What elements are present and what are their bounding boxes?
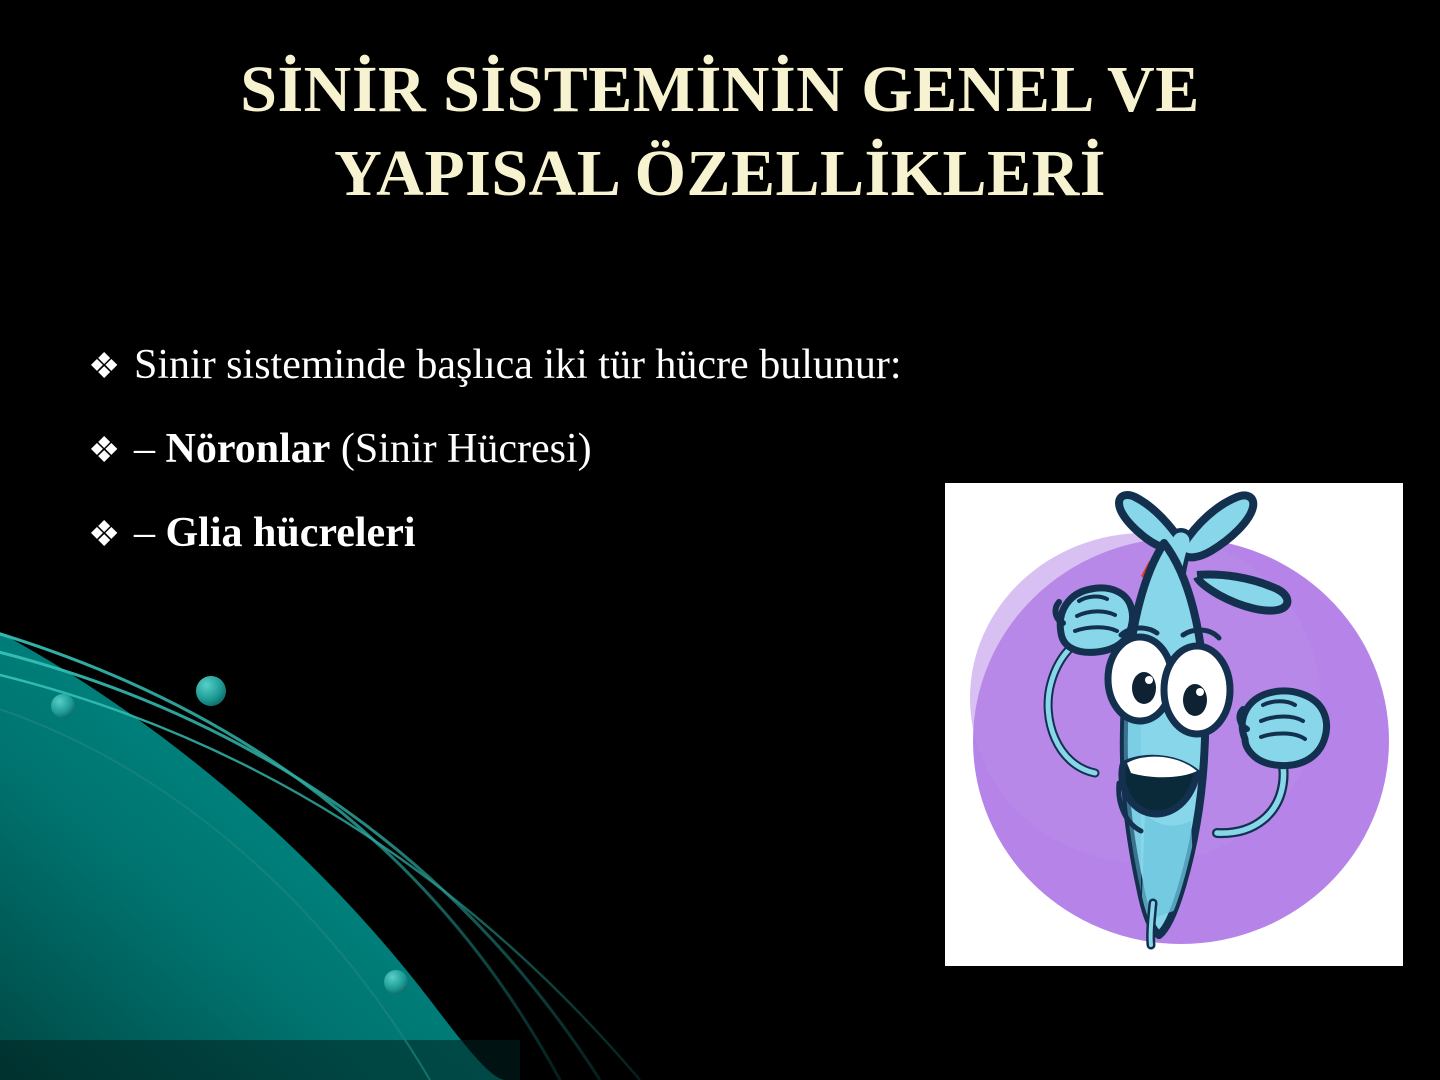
orbit-dot-3 [384,970,408,994]
list-item-bold: Glia hücreleri [166,510,416,556]
diamond-bullet-icon: ❖ [88,516,134,552]
list-item-bold: Nöronlar [166,426,331,472]
list-item-text: – Nöronlar (Sinir Hücresi) [134,428,1138,470]
list-item: ❖ Sinir sisteminde başlıca iki tür hücre… [88,344,1138,386]
slide-title: SİNİR SİSTEMİNİN GENEL VE YAPISAL ÖZELLİ… [70,48,1370,217]
list-item-dash: – [134,426,166,472]
right-pupil [1183,684,1207,716]
cartoon-neuron-illustration [945,483,1403,966]
orbit-arc-3 [0,668,640,1080]
axon-tail-fill [1151,903,1153,945]
list-item-text: Sinir sisteminde başlıca iki tür hücre b… [134,344,1138,386]
right-fist-icon [1240,691,1327,766]
list-item: ❖ – Nöronlar (Sinir Hücresi) [88,428,1138,470]
neuron-image-frame [945,483,1403,966]
left-pupil [1132,672,1156,704]
orbit-dot-1 [51,694,75,718]
orbit-dot-2 [196,676,226,706]
diamond-bullet-icon: ❖ [88,432,134,468]
list-item-plain: Sinir sisteminde başlıca iki tür hücre b… [134,342,902,388]
presentation-slide: SİNİR SİSTEMİNİN GENEL VE YAPISAL ÖZELLİ… [0,0,1440,1080]
orbit-arc-1 [0,625,560,1080]
orbit-arc-4 [0,700,430,1080]
list-item-dash: – [134,510,166,556]
corner-swoosh-group [0,612,640,1080]
teal-corner-wedge [0,612,506,1080]
corner-shadow [0,1040,520,1080]
orbit-arc-2 [0,645,600,1080]
list-item-plain: (Sinir Hücresi) [330,426,591,472]
diamond-bullet-icon: ❖ [88,348,134,384]
